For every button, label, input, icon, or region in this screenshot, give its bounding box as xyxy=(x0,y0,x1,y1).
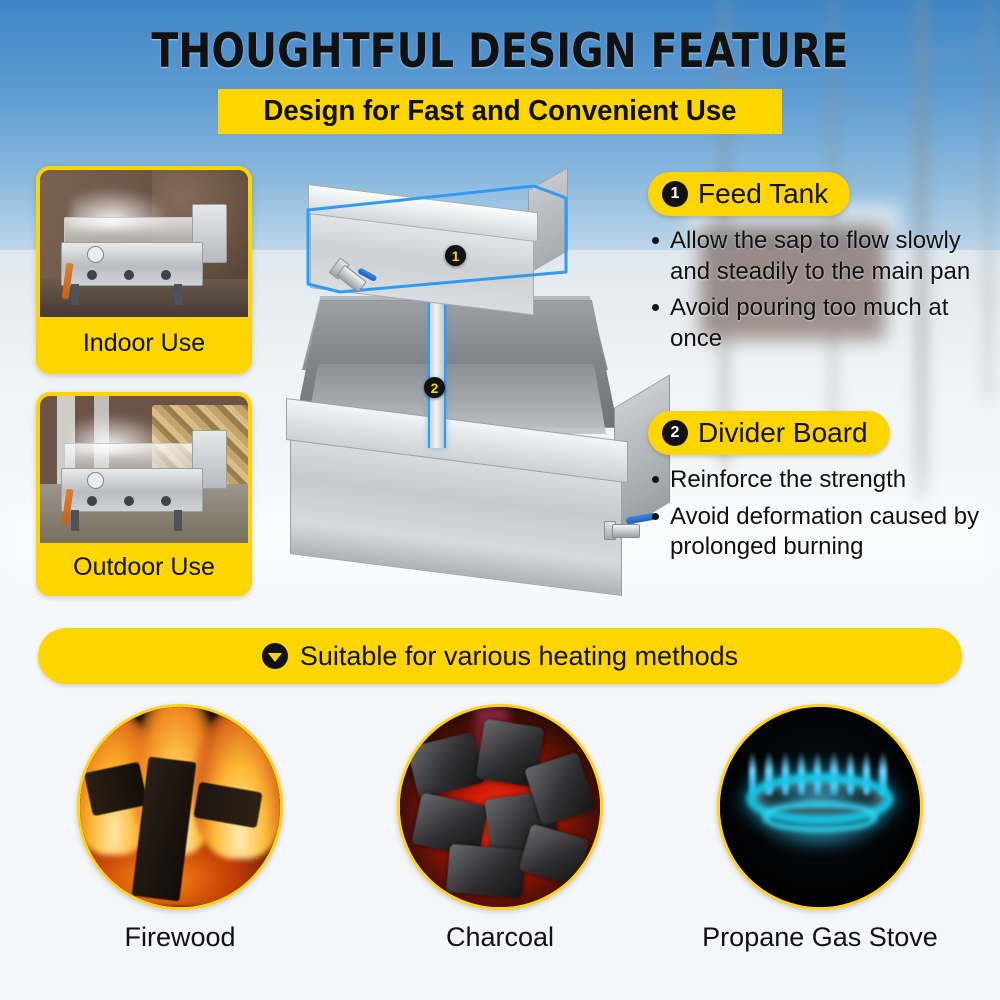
propane-burner-photo xyxy=(717,704,923,910)
feature-bullets-2: Reinforce the strength Avoid deformation… xyxy=(648,465,1000,563)
feature-badge-2: 2 xyxy=(662,420,688,446)
feature-pill-1[interactable]: 1 Feed Tank xyxy=(648,172,850,216)
use-case-label-indoor: Indoor Use xyxy=(40,317,248,370)
heating-methods-banner-text: Suitable for various heating methods xyxy=(300,641,738,672)
subtitle-banner: Design for Fast and Convenient Use xyxy=(218,89,782,134)
heating-method-label-propane: Propane Gas Stove xyxy=(700,922,940,953)
use-case-card-indoor[interactable]: Indoor Use xyxy=(36,166,252,374)
feature-pill-2[interactable]: 2 Divider Board xyxy=(648,411,890,455)
subtitle-text: Design for Fast and Convenient Use xyxy=(263,95,736,128)
list-item: Avoid pouring too much at once xyxy=(648,293,990,354)
mini-evaporator-illustration xyxy=(61,425,227,531)
page-title: THOUGHTFUL DESIGN FEATURE xyxy=(35,24,965,79)
heating-method-propane[interactable]: Propane Gas Stove xyxy=(700,704,940,953)
feature-callout-divider-board: 2 Divider Board Reinforce the strength A… xyxy=(648,411,1000,569)
list-item: Reinforce the strength xyxy=(648,465,1000,496)
feature-callout-feed-tank: 1 Feed Tank Allow the sap to flow slowly… xyxy=(648,172,990,361)
feature-title-1: Feed Tank xyxy=(698,178,828,210)
heating-methods-row: Firewood Charcoal xyxy=(0,704,1000,974)
infographic-page: THOUGHTFUL DESIGN FEATURE Design for Fas… xyxy=(0,0,1000,1000)
feature-bullets-1: Allow the sap to flow slowly and steadil… xyxy=(648,226,990,355)
product-marker-1: 1 xyxy=(445,245,466,266)
heating-methods-banner[interactable]: Suitable for various heating methods xyxy=(38,628,962,684)
heating-method-firewood[interactable]: Firewood xyxy=(60,704,300,953)
product-marker-2: 2 xyxy=(424,377,445,398)
mini-evaporator-illustration xyxy=(61,199,227,305)
outdoor-evaporator-photo xyxy=(40,396,248,543)
feature-title-2: Divider Board xyxy=(698,417,868,449)
heating-method-label-charcoal: Charcoal xyxy=(380,922,620,953)
firewood-photo xyxy=(77,704,283,910)
list-item: Avoid deformation caused by prolonged bu… xyxy=(648,502,1000,563)
charcoal-photo xyxy=(397,704,603,910)
use-case-card-outdoor[interactable]: Outdoor Use xyxy=(36,392,252,596)
heating-method-charcoal[interactable]: Charcoal xyxy=(380,704,620,953)
indoor-evaporator-photo xyxy=(40,170,248,317)
list-item: Allow the sap to flow slowly and steadil… xyxy=(648,226,990,287)
heating-method-label-firewood: Firewood xyxy=(60,922,300,953)
product-illustration: 1 2 xyxy=(282,168,666,600)
caret-down-icon xyxy=(262,643,288,669)
use-case-label-outdoor: Outdoor Use xyxy=(40,543,248,592)
feature-badge-1: 1 xyxy=(662,181,688,207)
divider-board-part xyxy=(428,280,446,448)
